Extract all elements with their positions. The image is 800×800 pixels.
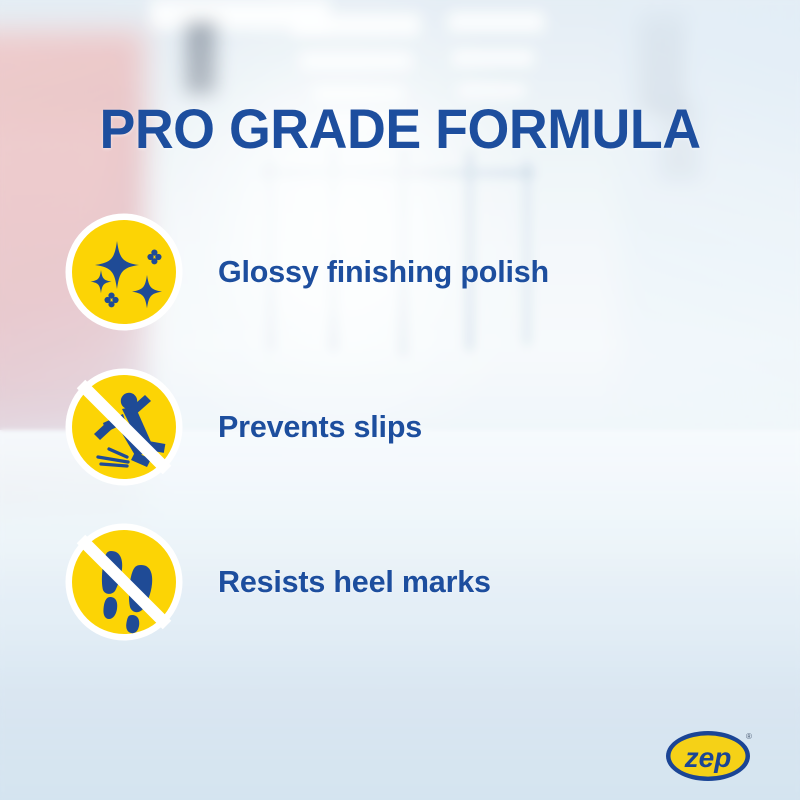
registered-trademark-symbol: ® <box>746 732 752 741</box>
sparkle-shine-icon <box>65 213 183 331</box>
no-heel-marks-footprints-icon <box>65 523 183 641</box>
feature-item: Glossy finishing polish <box>0 213 800 368</box>
feature-item: Resists heel marks <box>0 523 800 678</box>
zep-logo: zep ® <box>663 727 757 783</box>
feature-list: Glossy finishing polish <box>0 213 800 678</box>
feature-label: Resists heel marks <box>218 523 491 641</box>
promo-graphic: PRO GRADE FORMULA <box>0 0 800 800</box>
page-title: PRO GRADE FORMULA <box>16 101 784 157</box>
feature-label: Glossy finishing polish <box>218 213 549 331</box>
no-slip-falling-person-icon <box>65 368 183 486</box>
content-layer: PRO GRADE FORMULA <box>0 0 800 800</box>
feature-label: Prevents slips <box>218 368 422 486</box>
feature-item: Prevents slips <box>0 368 800 523</box>
zep-wordmark: zep <box>684 742 732 773</box>
